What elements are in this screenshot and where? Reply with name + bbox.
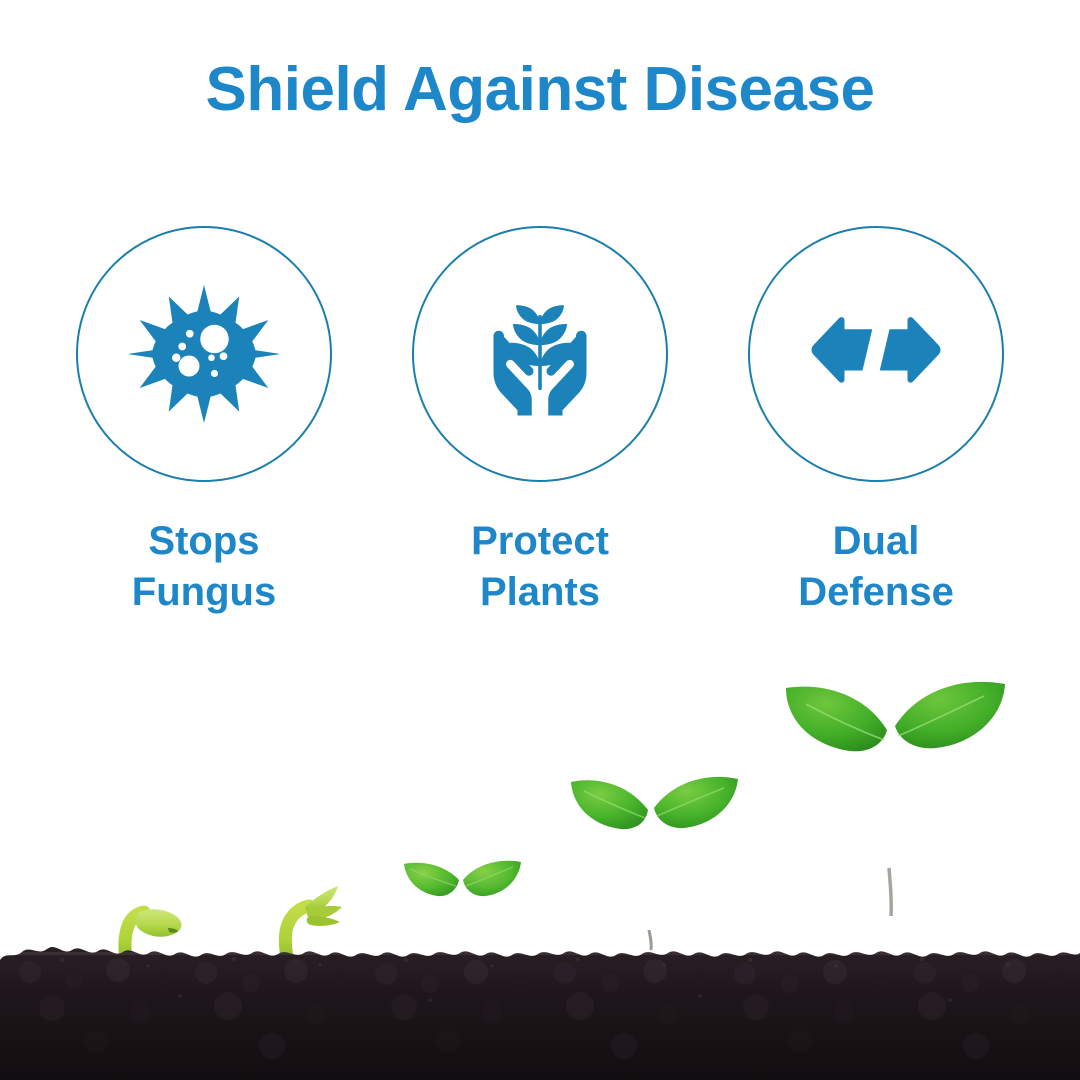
plant-stage-2 — [285, 886, 342, 962]
hands-holding-plant-icon — [465, 279, 615, 429]
plant-stage-4 — [571, 777, 738, 962]
feature-stops-fungus[interactable]: Stops Fungus — [72, 226, 336, 618]
feature-label-stops-fungus: Stops Fungus — [132, 516, 276, 618]
poster-canvas: Shield Against Disease — [0, 0, 1080, 1080]
plant-stage-5 — [786, 682, 1005, 962]
plant-stage-3 — [404, 861, 521, 962]
germ-microbe-icon — [129, 279, 279, 429]
soil-bed — [0, 940, 1080, 1080]
feature-row: Stops Fungus — [0, 226, 1080, 618]
plant-growth-scene — [0, 660, 1080, 1080]
feature-protect-plants[interactable]: Protect Plants — [408, 226, 672, 618]
page-title: Shield Against Disease — [0, 56, 1080, 124]
dual-arrows-icon — [801, 279, 951, 429]
feature-dual-defense[interactable]: Dual Defense — [744, 226, 1008, 618]
icon-circle-protect-plants — [412, 226, 668, 482]
feature-label-dual-defense: Dual Defense — [798, 516, 954, 618]
feature-label-protect-plants: Protect Plants — [471, 516, 609, 618]
icon-circle-stops-fungus — [76, 226, 332, 482]
icon-circle-dual-defense — [748, 226, 1004, 482]
